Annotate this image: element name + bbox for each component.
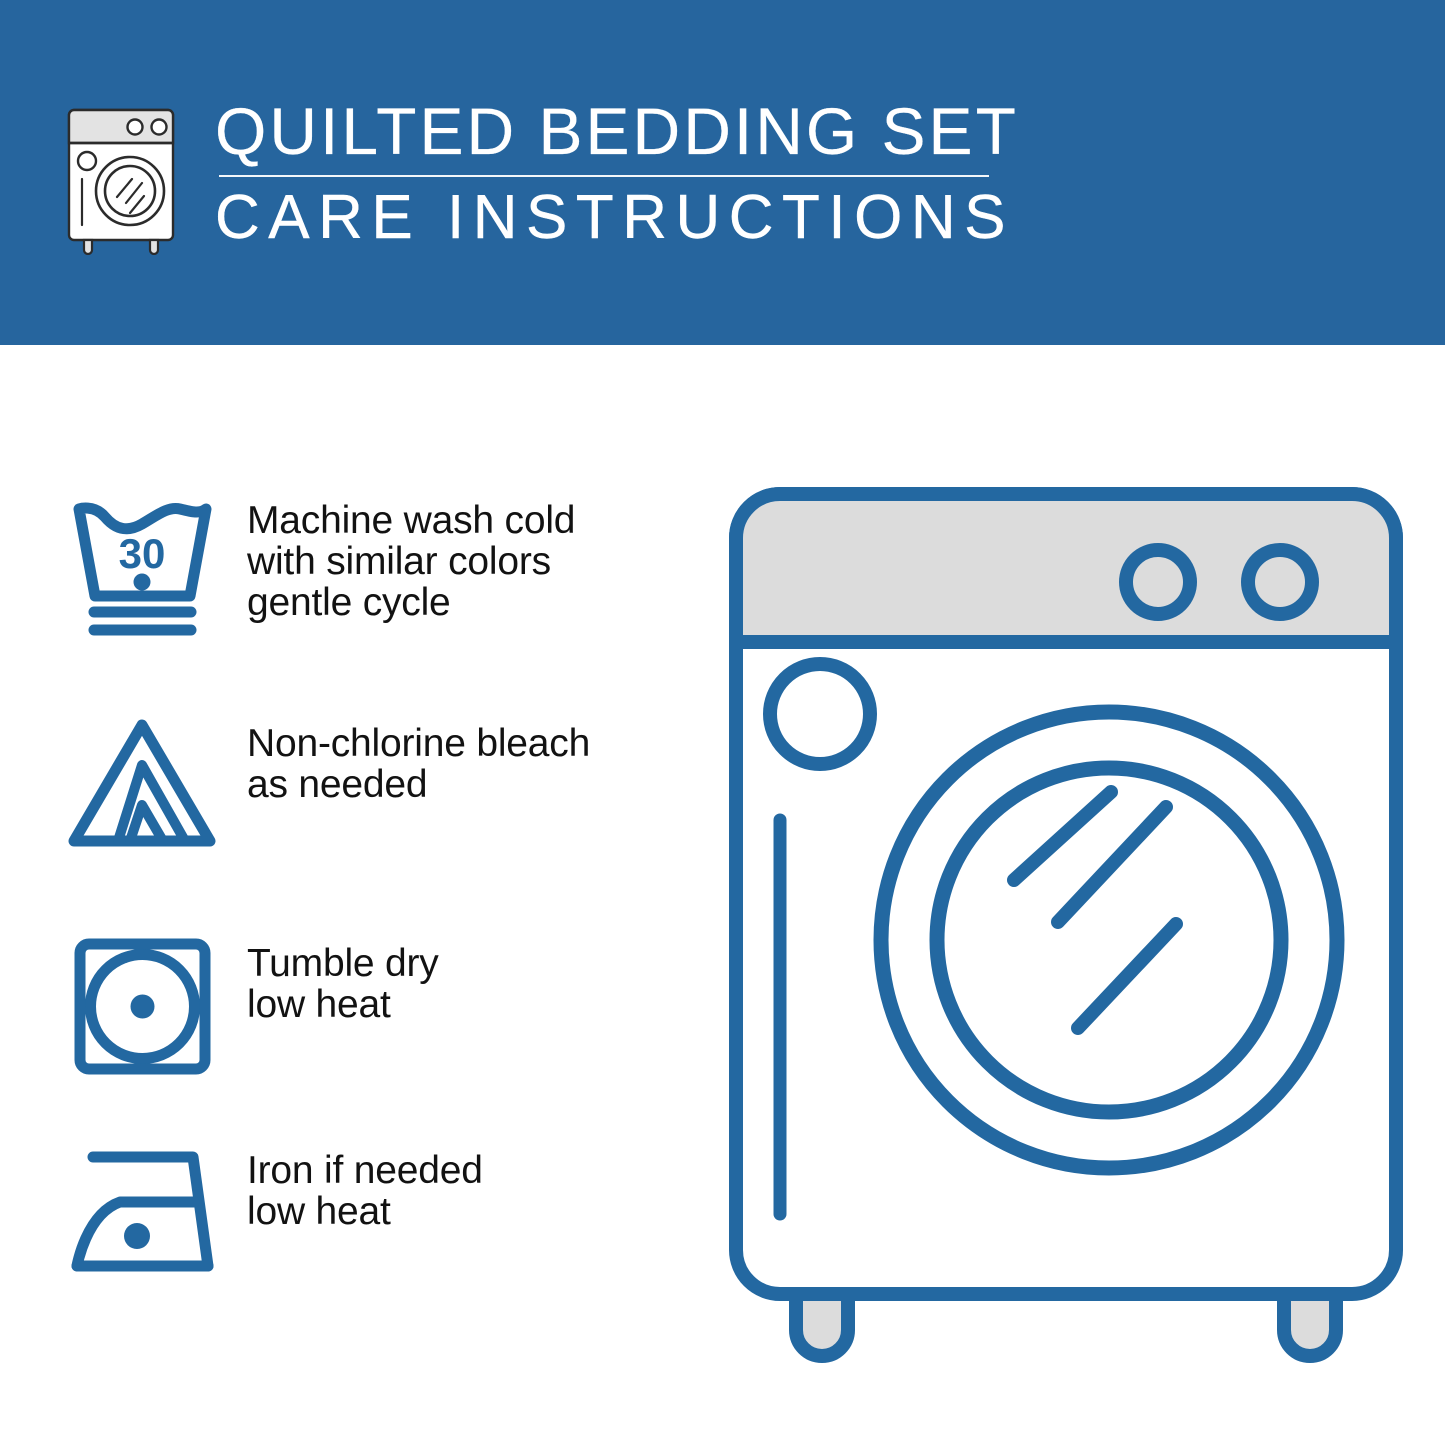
wash-tub-30-icon: 30 — [60, 490, 225, 640]
care-text-line: Non-chlorine bleach — [247, 723, 590, 764]
header-text: QUILTED BEDDING SET CARE INSTRUCTIONS — [215, 95, 1019, 252]
bleach-triangle-icon — [60, 713, 225, 863]
leg-right — [1284, 1294, 1336, 1356]
leg-left — [796, 1294, 848, 1356]
detergent-dispenser[interactable] — [770, 664, 870, 764]
care-text-line: low heat — [247, 1191, 483, 1232]
care-text-line: with similar colors — [247, 541, 575, 582]
care-text-line: gentle cycle — [247, 582, 575, 623]
care-text-line: Iron if needed — [247, 1150, 483, 1191]
knob-left[interactable] — [1126, 550, 1190, 614]
door-inner-ring[interactable] — [937, 768, 1281, 1112]
care-instructions-page: QUILTED BEDDING SET CARE INSTRUCTIONS 30 — [0, 0, 1445, 1445]
washing-machine-icon — [60, 103, 182, 255]
tumble-dry-icon — [60, 933, 225, 1083]
care-instruction-text: Non-chlorine bleach as needed — [247, 713, 590, 805]
care-instruction-text: Iron if needed low heat — [247, 1140, 483, 1232]
header-content: QUILTED BEDDING SET CARE INSTRUCTIONS — [60, 95, 1380, 270]
care-instruction-text: Tumble dry low heat — [247, 933, 439, 1025]
title-divider — [219, 175, 989, 177]
care-instruction-item: Tumble dry low heat — [60, 933, 680, 1083]
care-instruction-item: 30 Machine wash cold with similar colors… — [60, 490, 680, 640]
care-instruction-item: Non-chlorine bleach as needed — [60, 713, 680, 863]
care-text-line: Tumble dry — [247, 943, 439, 984]
header-band: QUILTED BEDDING SET CARE INSTRUCTIONS — [0, 0, 1445, 345]
knob-right[interactable] — [1248, 550, 1312, 614]
iron-icon — [60, 1140, 225, 1290]
care-instruction-list: 30 Machine wash cold with similar colors… — [0, 345, 700, 1445]
page-subtitle: CARE INSTRUCTIONS — [215, 184, 1019, 252]
page-title: QUILTED BEDDING SET — [215, 95, 1019, 167]
washing-machine-illustration — [706, 462, 1426, 1382]
care-text-line: Machine wash cold — [247, 500, 575, 541]
wash-temperature-label: 30 — [119, 530, 166, 577]
care-text-line: low heat — [247, 984, 439, 1025]
care-instruction-item: Iron if needed low heat — [60, 1140, 680, 1290]
care-instruction-text: Machine wash cold with similar colors ge… — [247, 490, 575, 623]
care-text-line: as needed — [247, 764, 590, 805]
